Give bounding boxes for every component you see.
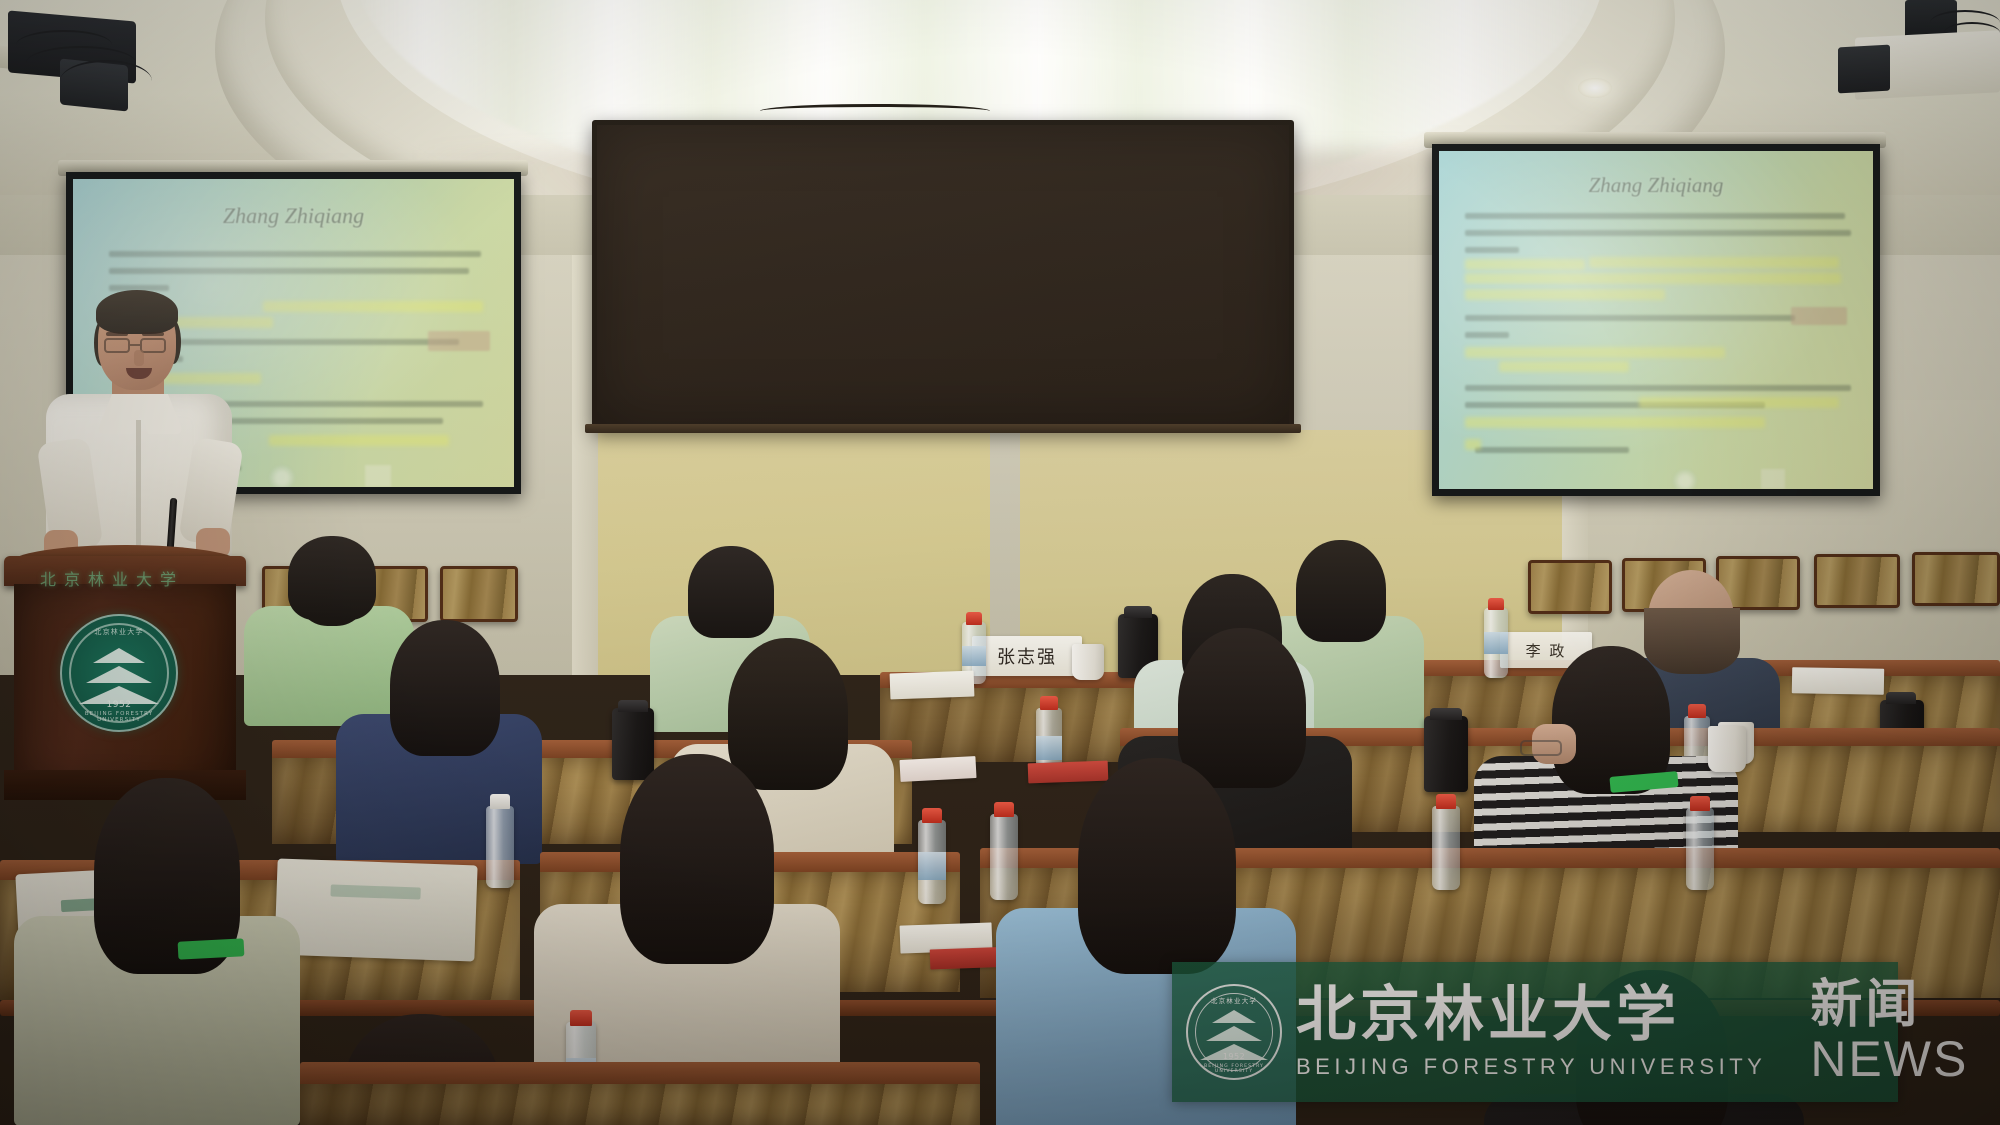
thermos-cap	[618, 700, 648, 712]
watermark-section-cn: 新闻	[1810, 978, 1968, 1033]
slide-watermark-logo	[1673, 469, 1697, 489]
watermark-section-block: 新闻 NEWS	[1810, 978, 1968, 1085]
logo-year: 1952	[1188, 1052, 1280, 1061]
name-card-label: 张志强	[997, 643, 1057, 669]
paper-sheet	[890, 671, 975, 700]
watermark-title-block: 北京林业大学 BEIJING FORESTRY UNIVERSITY	[1296, 985, 1766, 1080]
slide-highlight	[1465, 273, 1841, 284]
chair	[1528, 560, 1612, 614]
speaker-nose	[134, 350, 144, 366]
lecture-hall-photo: Zhang Zhiqiang Zhang Zhiqiang	[0, 0, 2000, 1125]
blackboard-chalk-rail	[585, 424, 1301, 433]
thermos	[1424, 716, 1468, 792]
slide-watermark-badge	[365, 465, 391, 487]
slide-title-left: Zhang Zhiqiang	[73, 203, 514, 229]
slide-text-line	[1465, 332, 1509, 338]
tote-bag-print	[330, 884, 420, 899]
watermark-section-en: NEWS	[1810, 1033, 1968, 1086]
slide-highlight	[1465, 259, 1585, 270]
person-hair	[620, 754, 774, 964]
projector-lens-right	[1838, 45, 1890, 94]
person-hair	[1644, 608, 1740, 674]
slide-highlight	[1465, 347, 1725, 358]
paper-sheet	[899, 756, 976, 782]
paper-sheet	[1792, 667, 1884, 695]
bottle-cap	[1488, 598, 1504, 610]
slide-watermark-badge	[1761, 469, 1785, 489]
slide-text-line	[1465, 230, 1851, 236]
person-hair	[688, 546, 774, 638]
slide-highlight	[1499, 361, 1629, 372]
slide-right: Zhang Zhiqiang	[1439, 151, 1873, 489]
speaker-glasses	[140, 338, 166, 353]
bottle-cap	[994, 802, 1014, 817]
bottle-cap	[570, 1010, 592, 1026]
slide-callout-box	[428, 331, 490, 351]
person-hair	[728, 638, 848, 790]
paper-cup	[1072, 644, 1104, 680]
watermark-badge: 北京林业大学 1952 BEIJING FORESTRY UNIVERSITY …	[1172, 962, 1898, 1102]
bottle-cap	[966, 612, 982, 625]
slide-title-right: Zhang Zhiqiang	[1439, 173, 1873, 198]
bottle-cap	[1690, 796, 1710, 811]
logo-arc-bottom-label: BEIJING FORESTRY UNIVERSITY	[1188, 1064, 1280, 1074]
bfu-emblem-podium: 北京林业大学 1952 BEIJING FORESTRY UNIVERSITY	[60, 614, 178, 732]
person-hair	[1078, 758, 1236, 974]
slide-callout-box	[1791, 307, 1847, 325]
water-bottle	[1686, 808, 1714, 890]
logo-chevron	[1206, 1026, 1262, 1041]
recessed-light-icon	[1578, 78, 1612, 98]
cable	[760, 104, 990, 118]
podium-engraved-text: 北京林业大学	[40, 566, 184, 590]
slide-text-line	[1475, 447, 1629, 453]
desk-front-panel	[300, 1084, 980, 1125]
chair	[1912, 552, 2000, 606]
emblem-chevron	[93, 648, 145, 663]
chair	[440, 566, 518, 622]
eyeglasses-icon	[1520, 740, 1562, 756]
bottle-cap	[490, 794, 510, 809]
red-box	[1028, 761, 1109, 784]
slide-highlight	[1465, 439, 1481, 450]
watermark-title-en: BEIJING FORESTRY UNIVERSITY	[1296, 1054, 1766, 1080]
speaker-eyebrow	[106, 332, 128, 336]
speaker-glasses	[104, 338, 130, 353]
bottle-label	[1036, 736, 1062, 760]
slide-highlight	[1589, 257, 1839, 268]
bottle-label	[1484, 632, 1508, 654]
slide-text-line	[1465, 315, 1795, 321]
logo-arc-top-label: 北京林业大学	[1188, 995, 1280, 1005]
speaker-glasses-bridge	[130, 344, 140, 346]
slide-highlight	[1465, 289, 1665, 300]
desk-top	[300, 1062, 980, 1084]
slide-text-line	[1465, 385, 1851, 391]
bottle-cap	[1688, 704, 1706, 718]
person-hair	[1296, 540, 1386, 642]
bottle-cap	[1040, 696, 1058, 710]
blackboard	[592, 120, 1294, 430]
slide-highlight	[269, 435, 449, 446]
speaker-eyebrow	[142, 332, 164, 336]
projection-screen-right: Zhang Zhiqiang	[1432, 144, 1880, 496]
thermos-cap	[1886, 692, 1916, 704]
slide-text-line	[1465, 213, 1845, 219]
slide-highlight	[263, 301, 483, 312]
person-hair	[1552, 646, 1670, 794]
person-hair	[390, 620, 500, 756]
tote-bag	[274, 859, 477, 962]
speaker-shirt-placket	[136, 420, 141, 560]
thermos	[612, 708, 654, 780]
slide-watermark-logo	[269, 465, 295, 487]
slide-text-line	[1465, 247, 1519, 253]
person-hair	[288, 536, 376, 620]
thermos-cap	[1430, 708, 1462, 720]
chair	[1814, 554, 1900, 608]
name-card-label: 李 政	[1526, 640, 1567, 661]
slide-text-line	[109, 251, 481, 257]
slide-highlight	[1465, 417, 1765, 428]
bottle-cap	[922, 808, 942, 823]
lanyard	[178, 938, 245, 959]
bottle-label	[962, 646, 986, 666]
thermos-cap	[1124, 606, 1152, 618]
emblem-arc-bottom-label: BEIJING FORESTRY UNIVERSITY	[62, 711, 176, 723]
watermark-title-cn: 北京林业大学	[1296, 985, 1766, 1045]
logo-chevron	[1212, 1010, 1256, 1023]
name-card: 张志强	[972, 636, 1082, 676]
speaker-hair	[96, 290, 178, 334]
person-hair	[1178, 628, 1306, 788]
bottle-label	[918, 852, 946, 880]
slide-text-line	[109, 268, 469, 274]
emblem-year: 1952	[62, 700, 176, 710]
slide-text-line	[1465, 402, 1765, 408]
water-bottle	[486, 806, 514, 888]
slide-highlight	[1639, 397, 1839, 408]
cable	[60, 60, 152, 102]
water-bottle	[990, 814, 1018, 900]
emblem-chevron	[86, 666, 152, 683]
paper-cup	[1708, 726, 1746, 772]
cable	[1944, 22, 2000, 44]
bottle-cap	[1436, 794, 1456, 809]
water-bottle	[1432, 806, 1460, 890]
emblem-arc-top-label: 北京林业大学	[62, 627, 176, 637]
bfu-logo-watermark: 北京林业大学 1952 BEIJING FORESTRY UNIVERSITY	[1186, 984, 1282, 1080]
